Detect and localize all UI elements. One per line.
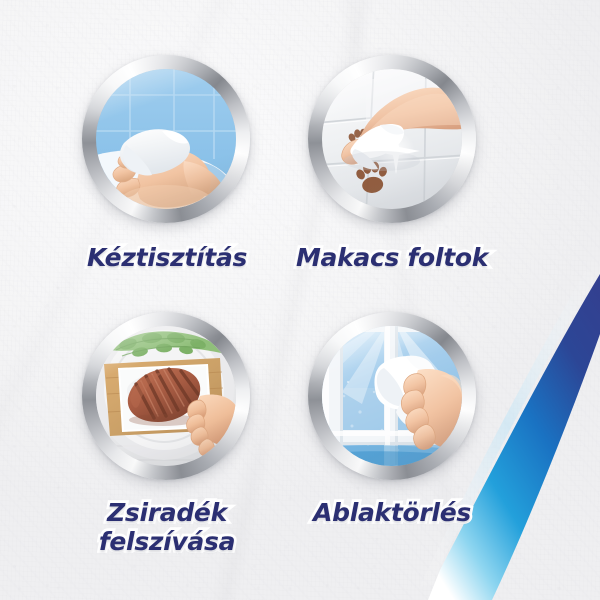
feature-label-line: Kéztisztítás: [37, 243, 297, 272]
stubborn-stains-photo: [322, 69, 462, 209]
window-wiping-photo: [322, 326, 462, 466]
medallion-frame: [308, 312, 476, 480]
feature-card-window-wiping[interactable]: [308, 312, 476, 480]
feature-label-window-wiping: Ablaktörlés: [262, 498, 522, 527]
feature-label-line: felszívása: [37, 527, 297, 556]
grease-absorption-photo: [96, 326, 236, 466]
feature-label-hand-cleaning: Kéztisztítás: [37, 243, 297, 272]
feature-card-hand-cleaning[interactable]: [82, 55, 250, 223]
medallion-frame: [308, 55, 476, 223]
feature-label-grease-absorption: Zsiradék felszívása: [37, 498, 297, 556]
feature-label-line: Ablaktörlés: [262, 498, 522, 527]
hand-cleaning-photo: [96, 69, 236, 209]
feature-label-stubborn-stains: Makacs foltok: [262, 243, 522, 272]
medallion-frame: [82, 55, 250, 223]
feature-label-line: Zsiradék: [37, 498, 297, 527]
feature-label-line: Makacs foltok: [262, 243, 522, 272]
feature-card-grease-absorption[interactable]: [82, 312, 250, 480]
medallion-frame: [82, 312, 250, 480]
infographic-canvas: Kéztisztítás: [0, 0, 600, 600]
feature-card-stubborn-stains[interactable]: [308, 55, 476, 223]
